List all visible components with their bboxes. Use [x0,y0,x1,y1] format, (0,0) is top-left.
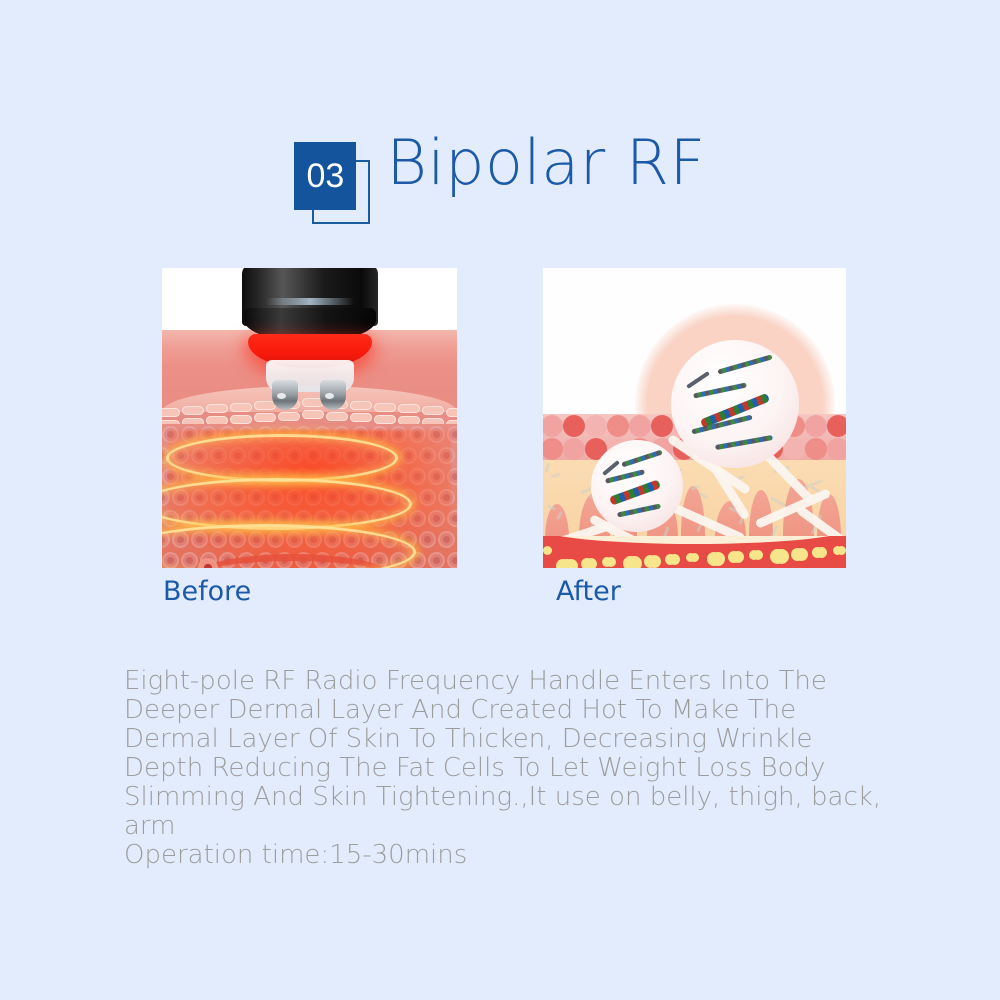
magnified-collagen-fiber [715,435,773,450]
magnified-collagen-fiber [621,450,662,468]
badge-filled-square: 03 [294,142,356,210]
magnified-collagen-fiber [717,354,772,374]
panel-labels: Before After [0,578,1000,614]
after-label: After [556,578,621,605]
before-image-panel [162,268,457,568]
badge-number-text: 03 [306,159,344,193]
magnifier-circle-upper [671,340,799,468]
magnified-collagen-fiber [686,371,710,389]
page-title: Bipolar RF [386,132,705,194]
rf-energy-ring [166,434,398,482]
description-block: Eight-pole RF Radio Frequency Handle Ent… [124,638,894,899]
before-label: Before [163,578,251,605]
magnified-collagen-fiber [617,503,661,517]
comparison-panels [0,268,1000,568]
magnified-collagen-fiber [693,382,747,398]
fat-layer-boundary [543,536,846,544]
after-image-panel [543,268,846,568]
section-number-badge: 03 [294,136,372,228]
subcutaneous-fat-layer [543,536,846,568]
electrode-sphere [320,380,346,410]
product-feature-slide: 03 Bipolar RF [0,0,1000,1000]
description-paragraph: Eight-pole RF Radio Frequency Handle Ent… [124,666,881,841]
magnified-collagen-fiber [605,469,645,484]
operation-time-text: Operation time:15-30mins [124,841,894,870]
magnified-collagen-fiber [609,479,661,505]
magnifier-circle-lower [591,440,683,532]
electrode-sphere [272,380,298,410]
magnified-collagen-fiber [602,460,620,476]
page-header: 03 Bipolar RF [0,128,1000,228]
handpiece-highlight [266,298,354,305]
rf-handpiece [236,268,384,408]
